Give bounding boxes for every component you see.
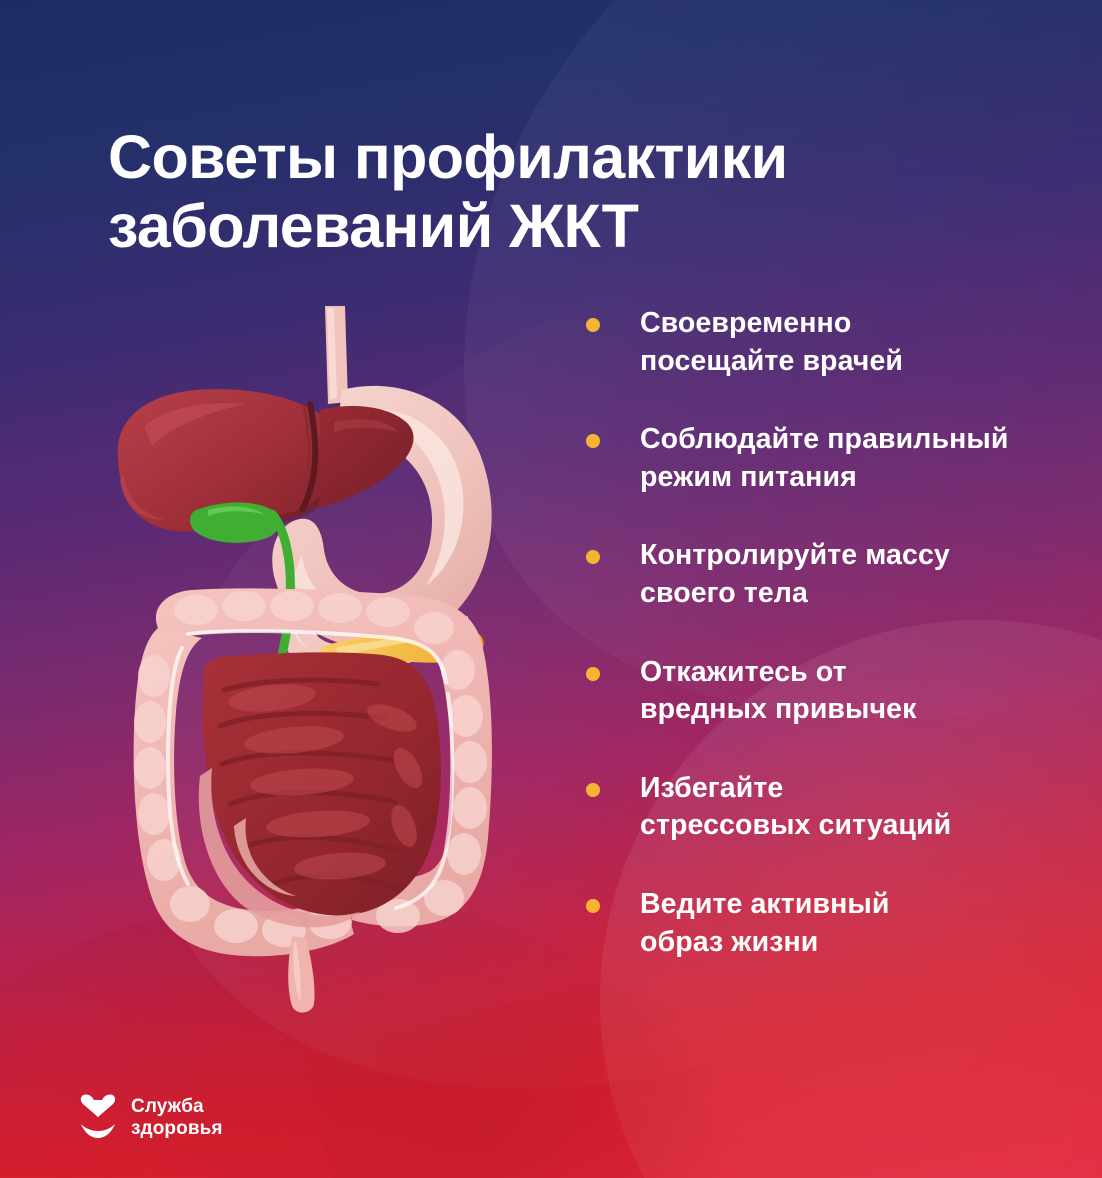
page-title: Советы профилактики заболеваний ЖКТ [108, 123, 1008, 261]
small-intestine-organ [199, 652, 441, 927]
tip-text: Своевременно посещайте врачей [640, 307, 903, 377]
tip-text: Откажитесь от вредных привычек [640, 656, 916, 726]
digestive-system-illustration [96, 298, 546, 1018]
list-item: Ведите активный образ жизни [586, 886, 1102, 961]
bullet-dot-icon [586, 434, 600, 448]
tip-text: Ведите активный образ жизни [640, 888, 889, 958]
bullet-dot-icon [586, 318, 600, 332]
tip-text: Контролируйте массу своего тела [640, 539, 950, 609]
tips-list: Своевременно посещайте врачей Соблюдайте… [586, 305, 1102, 961]
bullet-dot-icon [586, 550, 600, 564]
bullet-dot-icon [586, 667, 600, 681]
gallbladder-organ [190, 503, 280, 543]
tip-text: Соблюдайте правильный режим питания [640, 423, 1008, 493]
esophagus-organ [325, 306, 348, 404]
heart-smile-icon [78, 1093, 118, 1143]
bullet-dot-icon [586, 899, 600, 913]
infographic-poster: Советы профилактики заболеваний ЖКТ [0, 0, 1102, 1178]
list-item: Избегайте стрессовых ситуаций [586, 770, 1102, 845]
bullet-dot-icon [586, 783, 600, 797]
list-item: Соблюдайте правильный режим питания [586, 421, 1102, 496]
brand-logo: Служба здоровья [78, 1093, 223, 1143]
tip-text: Избегайте стрессовых ситуаций [640, 772, 951, 842]
list-item: Контролируйте массу своего тела [586, 537, 1102, 612]
brand-name: Служба здоровья [131, 1096, 223, 1139]
list-item: Откажитесь от вредных привычек [586, 654, 1102, 729]
list-item: Своевременно посещайте врачей [586, 305, 1102, 380]
